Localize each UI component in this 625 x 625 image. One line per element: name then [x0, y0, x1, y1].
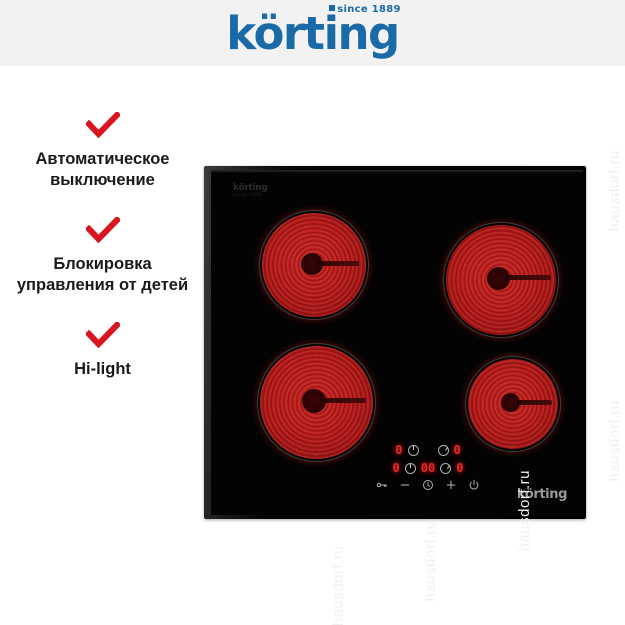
watermark: hausdorf.ru [606, 150, 623, 231]
feature-item-hi-light: Hi-light [0, 322, 205, 380]
feature-label: Автоматическое выключение [0, 149, 205, 191]
timer-clock-icon[interactable] [422, 479, 434, 491]
lock-key-icon[interactable] [376, 479, 388, 491]
check-icon [86, 112, 120, 138]
minus-icon[interactable] [399, 479, 411, 491]
watermark: hausdorf.ru [330, 545, 347, 625]
slider-front-right-icon[interactable] [440, 463, 451, 474]
watermark: hausdorf.ru [422, 520, 439, 601]
zone-ring [465, 356, 561, 452]
hob-top-brand-text: körting [233, 183, 268, 193]
page-root: körting since 1889 Автоматическое выключ… [0, 0, 625, 625]
power-icon[interactable] [468, 479, 480, 491]
feature-list: Автоматическое выключение Блокировка упр… [0, 112, 205, 407]
check-icon [86, 217, 120, 243]
header-bar: körting since 1889 [0, 0, 625, 66]
plus-icon[interactable] [445, 479, 457, 491]
brand-logo: körting since 1889 [226, 11, 399, 56]
brand-tagline: since 1889 [329, 5, 401, 15]
zone-edge-mark: ○ [313, 311, 316, 316]
watermark: hausdorf.ru [516, 470, 533, 551]
display-rear-right-value: 0 [454, 444, 461, 456]
hob-top-brand-mark: körting since 1889 [233, 184, 268, 199]
touch-control-panel[interactable]: 0 0 0 00 0 [363, 443, 493, 491]
hob-glass-surface: körting since 1889 ○ ○ [211, 170, 583, 515]
tagline-square-icon [329, 5, 335, 11]
brand-tagline-text: since 1889 [337, 4, 401, 15]
check-icon [86, 322, 120, 348]
slider-rear-right-icon[interactable] [438, 445, 449, 456]
zone-ring [259, 210, 369, 320]
zone-edge-mark: ○ [500, 328, 503, 333]
display-front-right-value: 0 [456, 462, 463, 474]
brand-logo-text: körting [226, 11, 399, 56]
display-timer-value: 00 [421, 462, 435, 474]
slider-rear-left-icon[interactable] [408, 445, 419, 456]
zone-front-right[interactable]: ○ [465, 356, 561, 452]
feature-item-child-lock: Блокировка управления от детей [0, 217, 205, 296]
feature-label: Блокировка управления от детей [0, 254, 205, 296]
hob-top-brand-sub: since 1889 [233, 194, 268, 199]
zone-ring [257, 343, 376, 462]
zone-edge-mark: ○ [512, 443, 515, 448]
display-row-rear: 0 0 [363, 443, 493, 457]
zone-edge-mark: ○ [315, 452, 318, 457]
watermark: hausdorf.ru [606, 400, 623, 481]
display-row-front: 0 00 0 [363, 461, 493, 475]
feature-label: Hi-light [0, 359, 205, 380]
feature-item-auto-shutoff: Автоматическое выключение [0, 112, 205, 191]
zone-rear-left[interactable]: ○ [259, 210, 369, 320]
display-rear-left-value: 0 [395, 444, 402, 456]
display-front-left-value: 0 [393, 462, 400, 474]
zone-ring [443, 222, 559, 338]
product-image-hob: körting since 1889 ○ ○ [204, 166, 586, 519]
control-button-row [363, 479, 493, 491]
slider-front-left-icon[interactable] [405, 463, 416, 474]
zone-front-left[interactable]: ○ [257, 343, 376, 462]
zone-rear-right[interactable]: ○ [443, 222, 559, 338]
